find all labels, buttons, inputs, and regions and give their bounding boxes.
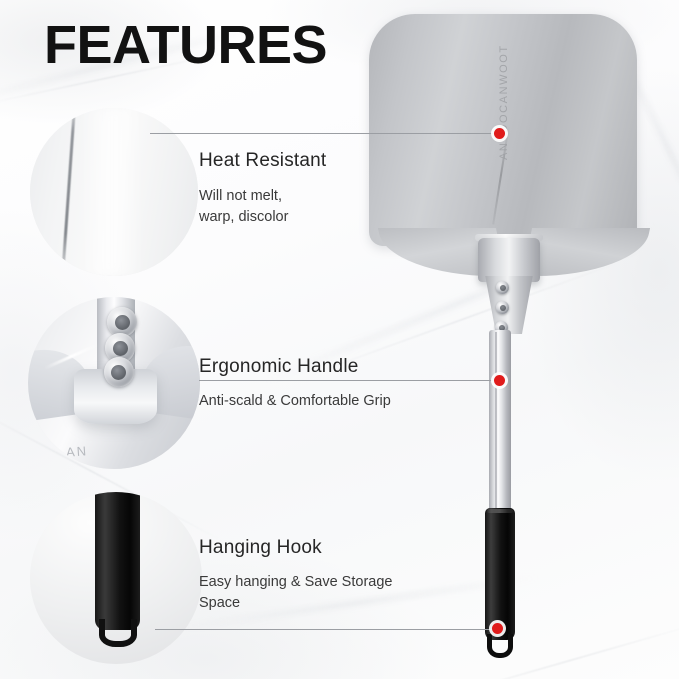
grip-closeup-body [95, 492, 140, 630]
callout-image-hanging-hook [30, 492, 202, 664]
callout-image-ergonomic-handle: AN [28, 297, 200, 469]
marker-dot-hanging-hook [492, 623, 503, 634]
grip-closeup-hook-loop [99, 619, 137, 647]
metal-sheen [80, 108, 144, 276]
handle-joint-cone [482, 276, 536, 334]
connector-line-heat-resistant [150, 133, 500, 134]
marker-dot-ergonomic-handle [494, 375, 505, 386]
feature-description-ergonomic-handle: Anti-scald & Comfortable Grip [199, 391, 459, 412]
infographic-canvas: FEATURES ANYDOCANWOOT Heat Resistant Wil… [0, 0, 679, 679]
hanging-hook-loop [487, 634, 513, 658]
handle-shaft [489, 330, 511, 512]
rivet-icon [496, 301, 509, 314]
grip-highlight [487, 509, 513, 513]
marker-dot-heat-resistant [494, 128, 505, 139]
rivet-icon [496, 281, 509, 294]
connector-line-ergonomic-handle [199, 380, 499, 381]
feature-description-hanging-hook: Easy hanging & Save Storage Space [199, 572, 444, 614]
blade-engraving-text: ANYDOCANWOOT [498, 44, 510, 160]
handle-joint-closeup: AN [28, 297, 200, 469]
feature-title-ergonomic-handle: Ergonomic Handle [199, 356, 359, 378]
handle-engraving-text: AN [65, 443, 88, 460]
handle-shaft-groove [495, 332, 497, 510]
handle-grip [485, 508, 515, 640]
rivet-icon [104, 357, 134, 387]
connector-line-hanging-hook [155, 629, 500, 630]
feature-title-hanging-hook: Hanging Hook [199, 537, 322, 559]
handle-mount-block [478, 238, 540, 282]
feature-title-heat-resistant: Heat Resistant [199, 150, 326, 172]
feature-description-heat-resistant: Will not melt, warp, discolor [199, 186, 389, 228]
